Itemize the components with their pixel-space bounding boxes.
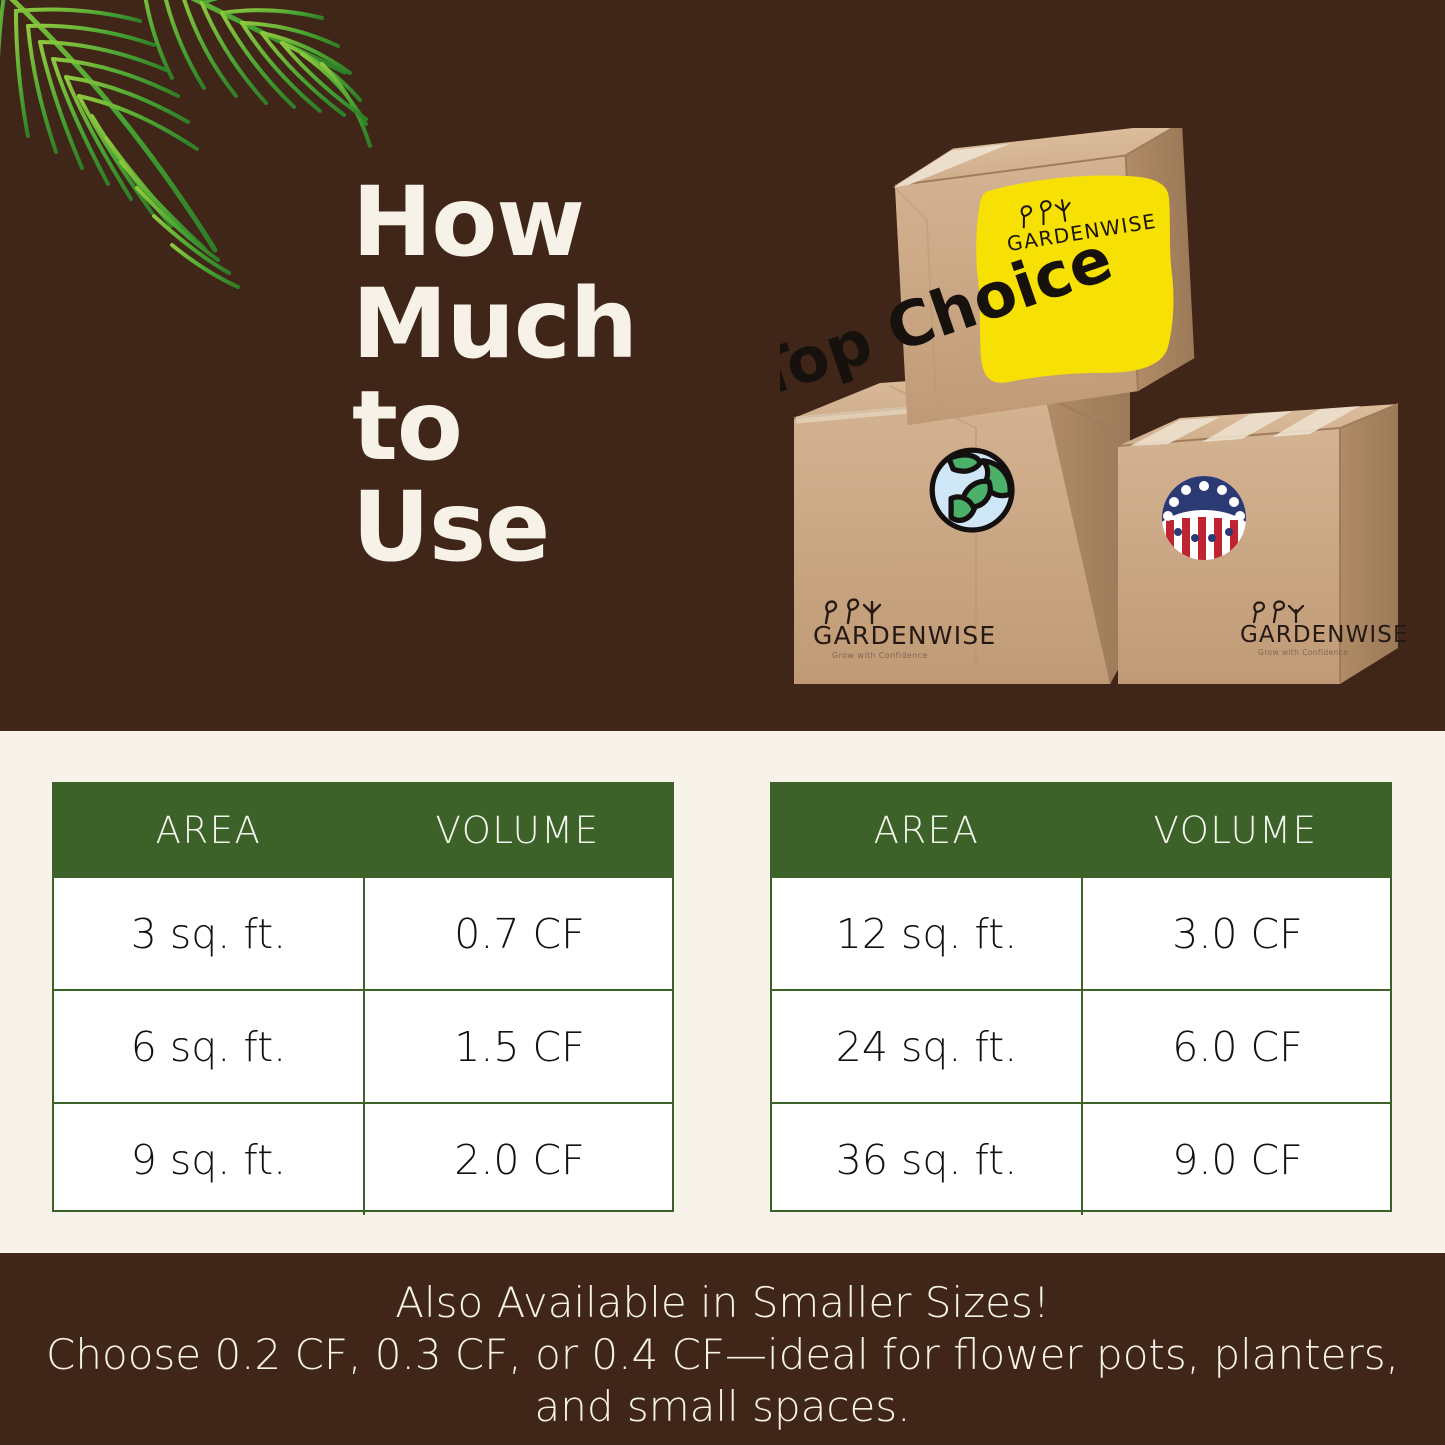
cell-volume: 2.0 CF [363, 1104, 674, 1215]
earth-eco-icon [932, 450, 1012, 530]
column-header-area: AREA [54, 784, 363, 876]
svg-text:Grow with Confidence: Grow with Confidence [1258, 648, 1348, 657]
table-row: 12 sq. ft. 3.0 CF [772, 876, 1390, 989]
cell-volume: 1.5 CF [363, 991, 674, 1102]
cell-area: 3 sq. ft. [54, 878, 363, 989]
title-line-1: How [352, 172, 752, 274]
table-large-areas: AREA VOLUME 12 sq. ft. 3.0 CF 24 sq. ft.… [770, 782, 1392, 1212]
table-row: 36 sq. ft. 9.0 CF [772, 1102, 1390, 1215]
column-header-volume: VOLUME [1081, 784, 1390, 876]
table-row: 24 sq. ft. 6.0 CF [772, 989, 1390, 1102]
table-row: 3 sq. ft. 0.7 CF [54, 876, 672, 989]
usa-flag-icon [1162, 476, 1246, 560]
table-header-row: AREA VOLUME [772, 784, 1390, 876]
title-line-2: Much to [352, 274, 752, 478]
cell-area: 24 sq. ft. [772, 991, 1081, 1102]
cell-area: 6 sq. ft. [54, 991, 363, 1102]
footer-line-2: Choose 0.2 CF, 0.3 CF, or 0.4 CF—ideal f… [0, 1329, 1445, 1381]
palm-frond-decoration [0, 0, 390, 360]
footer-line-3: and small spaces. [0, 1381, 1445, 1433]
svg-text:Grow with Confidence: Grow with Confidence [832, 651, 928, 660]
cell-volume: 6.0 CF [1081, 991, 1392, 1102]
box-top: GARDENWISE Top Choice [780, 128, 1197, 434]
svg-text:GARDENWISE: GARDENWISE [813, 621, 996, 650]
table-row: 9 sq. ft. 2.0 CF [54, 1102, 672, 1215]
footer-line-1: Also Available in Smaller Sizes! [0, 1277, 1445, 1329]
column-header-volume: VOLUME [363, 784, 672, 876]
title-line-3: Use [352, 477, 752, 579]
svg-text:GARDENWISE: GARDENWISE [1240, 622, 1409, 648]
infographic-page: How Much to Use [0, 0, 1445, 1445]
table-header-row: AREA VOLUME [54, 784, 672, 876]
cell-volume: 3.0 CF [1081, 878, 1392, 989]
cell-volume: 0.7 CF [363, 878, 674, 989]
cell-area: 12 sq. ft. [772, 878, 1081, 989]
table-small-areas: AREA VOLUME 3 sq. ft. 0.7 CF 6 sq. ft. 1… [52, 782, 674, 1212]
cell-volume: 9.0 CF [1081, 1104, 1392, 1215]
page-title: How Much to Use [352, 172, 752, 579]
product-boxes-image: GARDENWISE Grow with Confidence [780, 128, 1410, 688]
cell-area: 36 sq. ft. [772, 1104, 1081, 1215]
column-header-area: AREA [772, 784, 1081, 876]
footer-note: Also Available in Smaller Sizes! Choose … [0, 1277, 1445, 1433]
cell-area: 9 sq. ft. [54, 1104, 363, 1215]
table-row: 6 sq. ft. 1.5 CF [54, 989, 672, 1102]
